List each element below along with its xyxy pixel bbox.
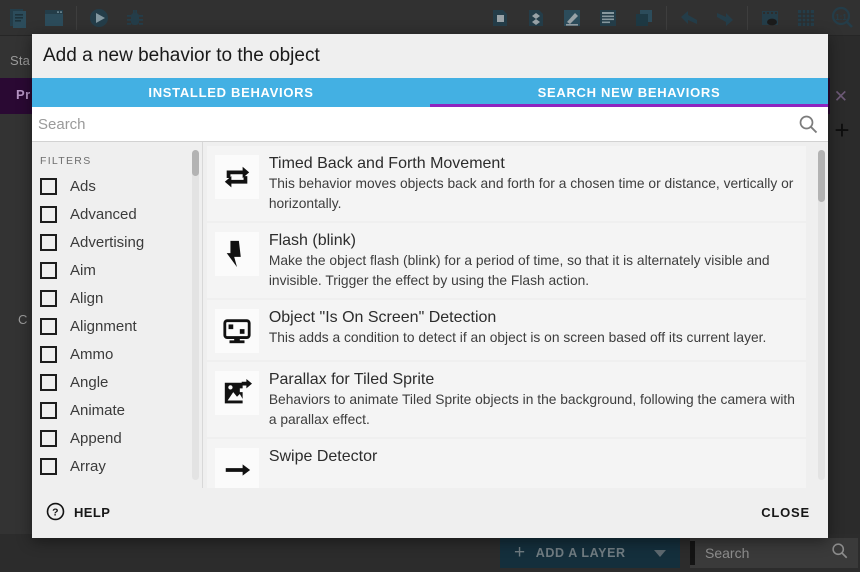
behavior-description: Behaviors to animate Tiled Sprite object… bbox=[269, 390, 806, 430]
filter-checkbox[interactable] bbox=[40, 206, 57, 223]
filter-label: Angle bbox=[70, 374, 108, 391]
new-object-icon[interactable] bbox=[482, 2, 518, 34]
svg-text:1:1: 1:1 bbox=[835, 13, 847, 22]
filter-checkbox[interactable] bbox=[40, 318, 57, 335]
behavior-list-item[interactable]: Swipe Detector bbox=[207, 439, 806, 488]
behaviors-results-list[interactable]: Timed Back and Forth MovementThis behavi… bbox=[203, 142, 828, 488]
lightning-bolt-icon bbox=[215, 232, 259, 276]
canvas-label: C bbox=[18, 312, 28, 327]
status-label: Sta bbox=[10, 53, 30, 68]
filter-label: Ads bbox=[70, 178, 96, 195]
redo-icon[interactable] bbox=[707, 2, 743, 34]
properties-label: Pr bbox=[16, 87, 31, 102]
behavior-text: Object "Is On Screen" DetectionThis adds… bbox=[269, 307, 806, 353]
behavior-list-item[interactable]: Flash (blink)Make the object flash (blin… bbox=[207, 223, 806, 298]
search-input[interactable] bbox=[38, 116, 798, 133]
filter-checkbox[interactable] bbox=[40, 290, 57, 307]
behavior-list-item[interactable]: Object "Is On Screen" DetectionThis adds… bbox=[207, 300, 806, 360]
zoom-1to1-icon[interactable]: 1:1 bbox=[824, 2, 860, 34]
help-label: HELP bbox=[74, 505, 110, 520]
search-divider bbox=[690, 541, 695, 565]
question-circle-icon: ? bbox=[46, 502, 65, 524]
filters-scrollbar-thumb[interactable] bbox=[192, 150, 199, 176]
filter-label: Animate bbox=[70, 402, 125, 419]
close-icon[interactable]: ✕ bbox=[834, 88, 848, 105]
behavior-list-item[interactable]: Timed Back and Forth MovementThis behavi… bbox=[207, 146, 806, 221]
play-icon[interactable] bbox=[81, 2, 117, 34]
tab-search-new-behaviors-label: SEARCH NEW BEHAVIORS bbox=[538, 85, 721, 100]
document-icon[interactable] bbox=[0, 2, 36, 34]
behavior-title: Timed Back and Forth Movement bbox=[269, 153, 806, 174]
toolbar-group-file bbox=[0, 0, 153, 36]
filter-label: Align bbox=[70, 290, 103, 307]
close-button[interactable]: CLOSE bbox=[761, 505, 810, 520]
filter-item[interactable]: Advertising bbox=[32, 229, 202, 257]
edit-pencil-icon[interactable] bbox=[554, 2, 590, 34]
monitor-screen-icon bbox=[215, 309, 259, 353]
behavior-text: Parallax for Tiled SpriteBehaviors to an… bbox=[269, 369, 806, 430]
filters-heading: FILTERS bbox=[32, 142, 202, 173]
help-button[interactable]: ? HELP bbox=[46, 502, 110, 524]
filter-item[interactable]: Alignment bbox=[32, 313, 202, 341]
behavior-description: Make the object flash (blink) for a peri… bbox=[269, 251, 806, 291]
search-icon[interactable] bbox=[831, 542, 848, 564]
filter-item[interactable]: Aim bbox=[32, 257, 202, 285]
toolbar-divider bbox=[747, 6, 748, 30]
tab-search-new-behaviors[interactable]: SEARCH NEW BEHAVIORS bbox=[430, 78, 828, 107]
filter-item[interactable]: Advanced bbox=[32, 201, 202, 229]
layers-icon[interactable] bbox=[626, 2, 662, 34]
filter-checkbox[interactable] bbox=[40, 178, 57, 195]
dialog-body: FILTERS AdsAdvancedAdvertisingAimAlignAl… bbox=[32, 142, 828, 488]
main-toolbar: 1:1 bbox=[0, 0, 860, 36]
behavior-text: Swipe Detector bbox=[269, 446, 806, 488]
behavior-description: This adds a condition to detect if an ob… bbox=[269, 328, 806, 348]
behavior-title: Object "Is On Screen" Detection bbox=[269, 307, 806, 328]
plus-icon[interactable]: + bbox=[828, 116, 856, 144]
behavior-title: Flash (blink) bbox=[269, 230, 806, 251]
arrow-right-icon bbox=[215, 448, 259, 488]
undo-icon[interactable] bbox=[671, 2, 707, 34]
filter-item[interactable]: Align bbox=[32, 285, 202, 313]
dialog-tabs: INSTALLED BEHAVIORS SEARCH NEW BEHAVIORS bbox=[32, 78, 828, 107]
behavior-title: Parallax for Tiled Sprite bbox=[269, 369, 806, 390]
toolbar-group-edit: 1:1 bbox=[482, 0, 860, 36]
behavior-title: Swipe Detector bbox=[269, 446, 806, 467]
filter-checkbox[interactable] bbox=[40, 458, 57, 475]
search-row bbox=[32, 107, 828, 142]
snapshot-icon[interactable] bbox=[752, 2, 788, 34]
filters-list: AdsAdvancedAdvertisingAimAlignAlignmentA… bbox=[32, 173, 202, 481]
app-root: 1:1 Sta Pr ✕ C + + ADD A LAYER Search Ad… bbox=[0, 0, 860, 572]
filter-label: Array bbox=[70, 458, 106, 475]
filter-checkbox[interactable] bbox=[40, 430, 57, 447]
layer-search-placeholder: Search bbox=[705, 545, 749, 561]
dialog-footer: ? HELP CLOSE bbox=[32, 488, 828, 538]
behavior-text: Flash (blink)Make the object flash (blin… bbox=[269, 230, 806, 291]
filter-checkbox[interactable] bbox=[40, 262, 57, 279]
results-scrollbar-thumb[interactable] bbox=[818, 150, 825, 202]
results-scrollbar[interactable] bbox=[818, 150, 825, 480]
filter-label: Append bbox=[70, 430, 122, 447]
results-container: Timed Back and Forth MovementThis behavi… bbox=[203, 142, 828, 488]
filter-label: Aim bbox=[70, 262, 96, 279]
chevron-down-icon[interactable] bbox=[654, 550, 666, 557]
behavior-description: This behavior moves objects back and for… bbox=[269, 174, 806, 214]
filter-item[interactable]: Ads bbox=[32, 173, 202, 201]
filter-checkbox[interactable] bbox=[40, 234, 57, 251]
layer-search-field[interactable]: Search bbox=[690, 538, 858, 568]
filter-item[interactable]: Angle bbox=[32, 369, 202, 397]
toolbar-divider bbox=[666, 6, 667, 30]
filter-label: Ammo bbox=[70, 346, 113, 363]
filter-label: Advanced bbox=[70, 206, 137, 223]
window-icon[interactable] bbox=[36, 2, 72, 34]
grid-icon[interactable] bbox=[788, 2, 824, 34]
filter-item[interactable]: Array bbox=[32, 453, 202, 481]
add-behavior-dialog: Add a new behavior to the object INSTALL… bbox=[32, 34, 828, 538]
search-icon[interactable] bbox=[798, 114, 818, 134]
plus-icon: + bbox=[514, 542, 526, 564]
event-sheet-icon[interactable] bbox=[590, 2, 626, 34]
image-arrow-icon bbox=[215, 371, 259, 415]
object-types-icon[interactable] bbox=[518, 2, 554, 34]
filter-item[interactable]: Animate bbox=[32, 397, 202, 425]
filter-item[interactable]: Append bbox=[32, 425, 202, 453]
toolbar-divider bbox=[76, 6, 77, 30]
filter-label: Advertising bbox=[70, 234, 144, 251]
filter-label: Alignment bbox=[70, 318, 137, 335]
add-layer-label: ADD A LAYER bbox=[536, 546, 626, 560]
tab-installed-behaviors[interactable]: INSTALLED BEHAVIORS bbox=[32, 78, 430, 107]
debug-bug-icon[interactable] bbox=[117, 2, 153, 34]
tab-installed-behaviors-label: INSTALLED BEHAVIORS bbox=[148, 85, 313, 100]
filter-item[interactable]: Ammo bbox=[32, 341, 202, 369]
add-layer-button[interactable]: + ADD A LAYER bbox=[500, 538, 680, 568]
behavior-list-item[interactable]: Parallax for Tiled SpriteBehaviors to an… bbox=[207, 362, 806, 437]
back-and-forth-arrows-icon bbox=[215, 155, 259, 199]
behavior-text: Timed Back and Forth MovementThis behavi… bbox=[269, 153, 806, 214]
svg-text:?: ? bbox=[52, 508, 59, 519]
filters-scrollbar[interactable] bbox=[192, 150, 199, 480]
filter-checkbox[interactable] bbox=[40, 346, 57, 363]
filter-checkbox[interactable] bbox=[40, 402, 57, 419]
filters-panel: FILTERS AdsAdvancedAdvertisingAimAlignAl… bbox=[32, 142, 203, 488]
dialog-title: Add a new behavior to the object bbox=[32, 34, 828, 78]
filter-checkbox[interactable] bbox=[40, 374, 57, 391]
